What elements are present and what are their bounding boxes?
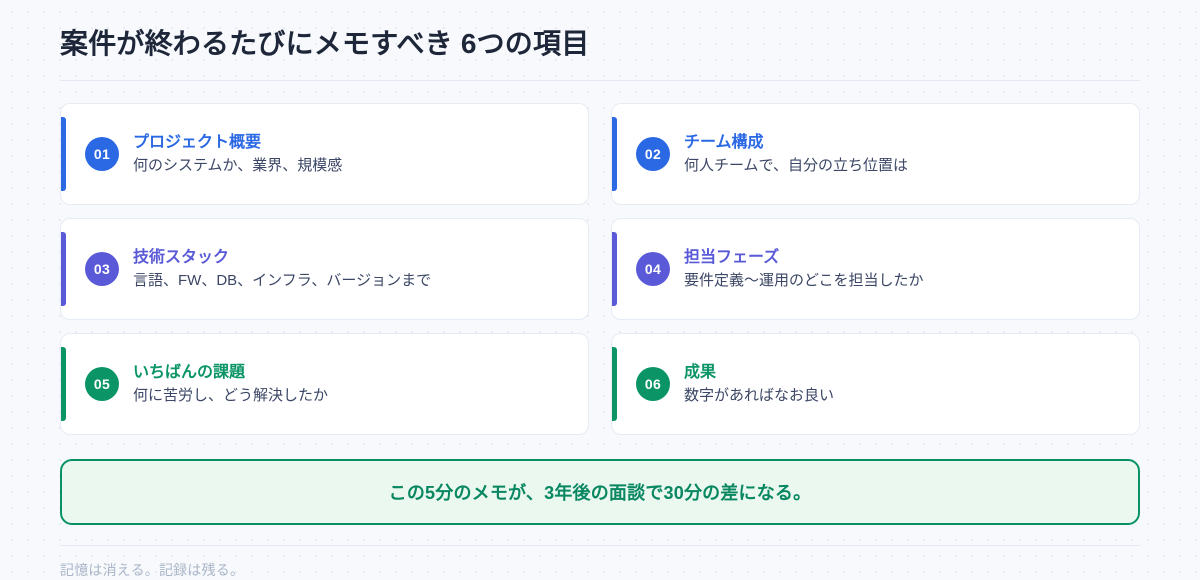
card-title: チーム構成 [684, 133, 908, 152]
accent-bar-icon [61, 232, 66, 306]
card-number-badge: 06 [636, 367, 670, 401]
card-text-block: 成果 数字があればなお良い [684, 363, 834, 405]
checklist-card-grid: 01 プロジェクト概要 何のシステムか、業界、規模感 02 チーム構成 何人チー… [60, 103, 1140, 435]
accent-bar-icon [612, 347, 617, 421]
card-title: 担当フェーズ [684, 248, 924, 267]
card-subtitle: 数字があればなお良い [684, 387, 834, 406]
card-number-badge: 02 [636, 137, 670, 171]
page-root: 案件が終わるたびにメモすべき 6つの項目 01 プロジェクト概要 何のシステムか… [0, 0, 1200, 580]
page-title: 案件が終わるたびにメモすべき 6つの項目 [60, 26, 1140, 62]
card-text-block: チーム構成 何人チームで、自分の立ち位置は [684, 133, 908, 175]
checklist-card-02[interactable]: 02 チーム構成 何人チームで、自分の立ち位置は [611, 103, 1140, 205]
card-text-block: 技術スタック 言語、FW、DB、インフラ、バージョンまで [133, 248, 431, 290]
accent-bar-icon [61, 117, 66, 191]
accent-bar-icon [612, 232, 617, 306]
accent-bar-icon [612, 117, 617, 191]
card-subtitle: 言語、FW、DB、インフラ、バージョンまで [133, 272, 431, 291]
checklist-card-04[interactable]: 04 担当フェーズ 要件定義〜運用のどこを担当したか [611, 218, 1140, 320]
card-number-badge: 04 [636, 252, 670, 286]
checklist-card-05[interactable]: 05 いちばんの課題 何に苦労し、どう解決したか [60, 333, 589, 435]
checklist-card-03[interactable]: 03 技術スタック 言語、FW、DB、インフラ、バージョンまで [60, 218, 589, 320]
card-text-block: プロジェクト概要 何のシステムか、業界、規模感 [133, 133, 342, 175]
card-subtitle: 何のシステムか、業界、規模感 [133, 157, 342, 176]
checklist-card-06[interactable]: 06 成果 数字があればなお良い [611, 333, 1140, 435]
footer-text: 記憶は消える。記録は残る。 [60, 562, 244, 578]
page-header: 案件が終わるたびにメモすべき 6つの項目 [60, 26, 1140, 81]
card-number-badge: 03 [85, 252, 119, 286]
checklist-card-01[interactable]: 01 プロジェクト概要 何のシステムか、業界、規模感 [60, 103, 589, 205]
card-title: 技術スタック [133, 248, 431, 267]
card-text-block: いちばんの課題 何に苦労し、どう解決したか [133, 363, 328, 405]
callout-banner: この5分のメモが、3年後の面談で30分の差になる。 [60, 459, 1140, 525]
card-title: プロジェクト概要 [133, 133, 342, 152]
card-title: いちばんの課題 [133, 363, 328, 382]
card-subtitle: 何に苦労し、どう解決したか [133, 387, 328, 406]
card-title: 成果 [684, 363, 834, 382]
card-number-badge: 01 [85, 137, 119, 171]
card-number-badge: 05 [85, 367, 119, 401]
card-subtitle: 要件定義〜運用のどこを担当したか [684, 272, 924, 291]
card-text-block: 担当フェーズ 要件定義〜運用のどこを担当したか [684, 248, 924, 290]
page-footer: 記憶は消える。記録は残る。 [60, 545, 1140, 580]
callout-text: この5分のメモが、3年後の面談で30分の差になる。 [389, 479, 812, 505]
accent-bar-icon [61, 347, 66, 421]
card-subtitle: 何人チームで、自分の立ち位置は [684, 157, 908, 176]
